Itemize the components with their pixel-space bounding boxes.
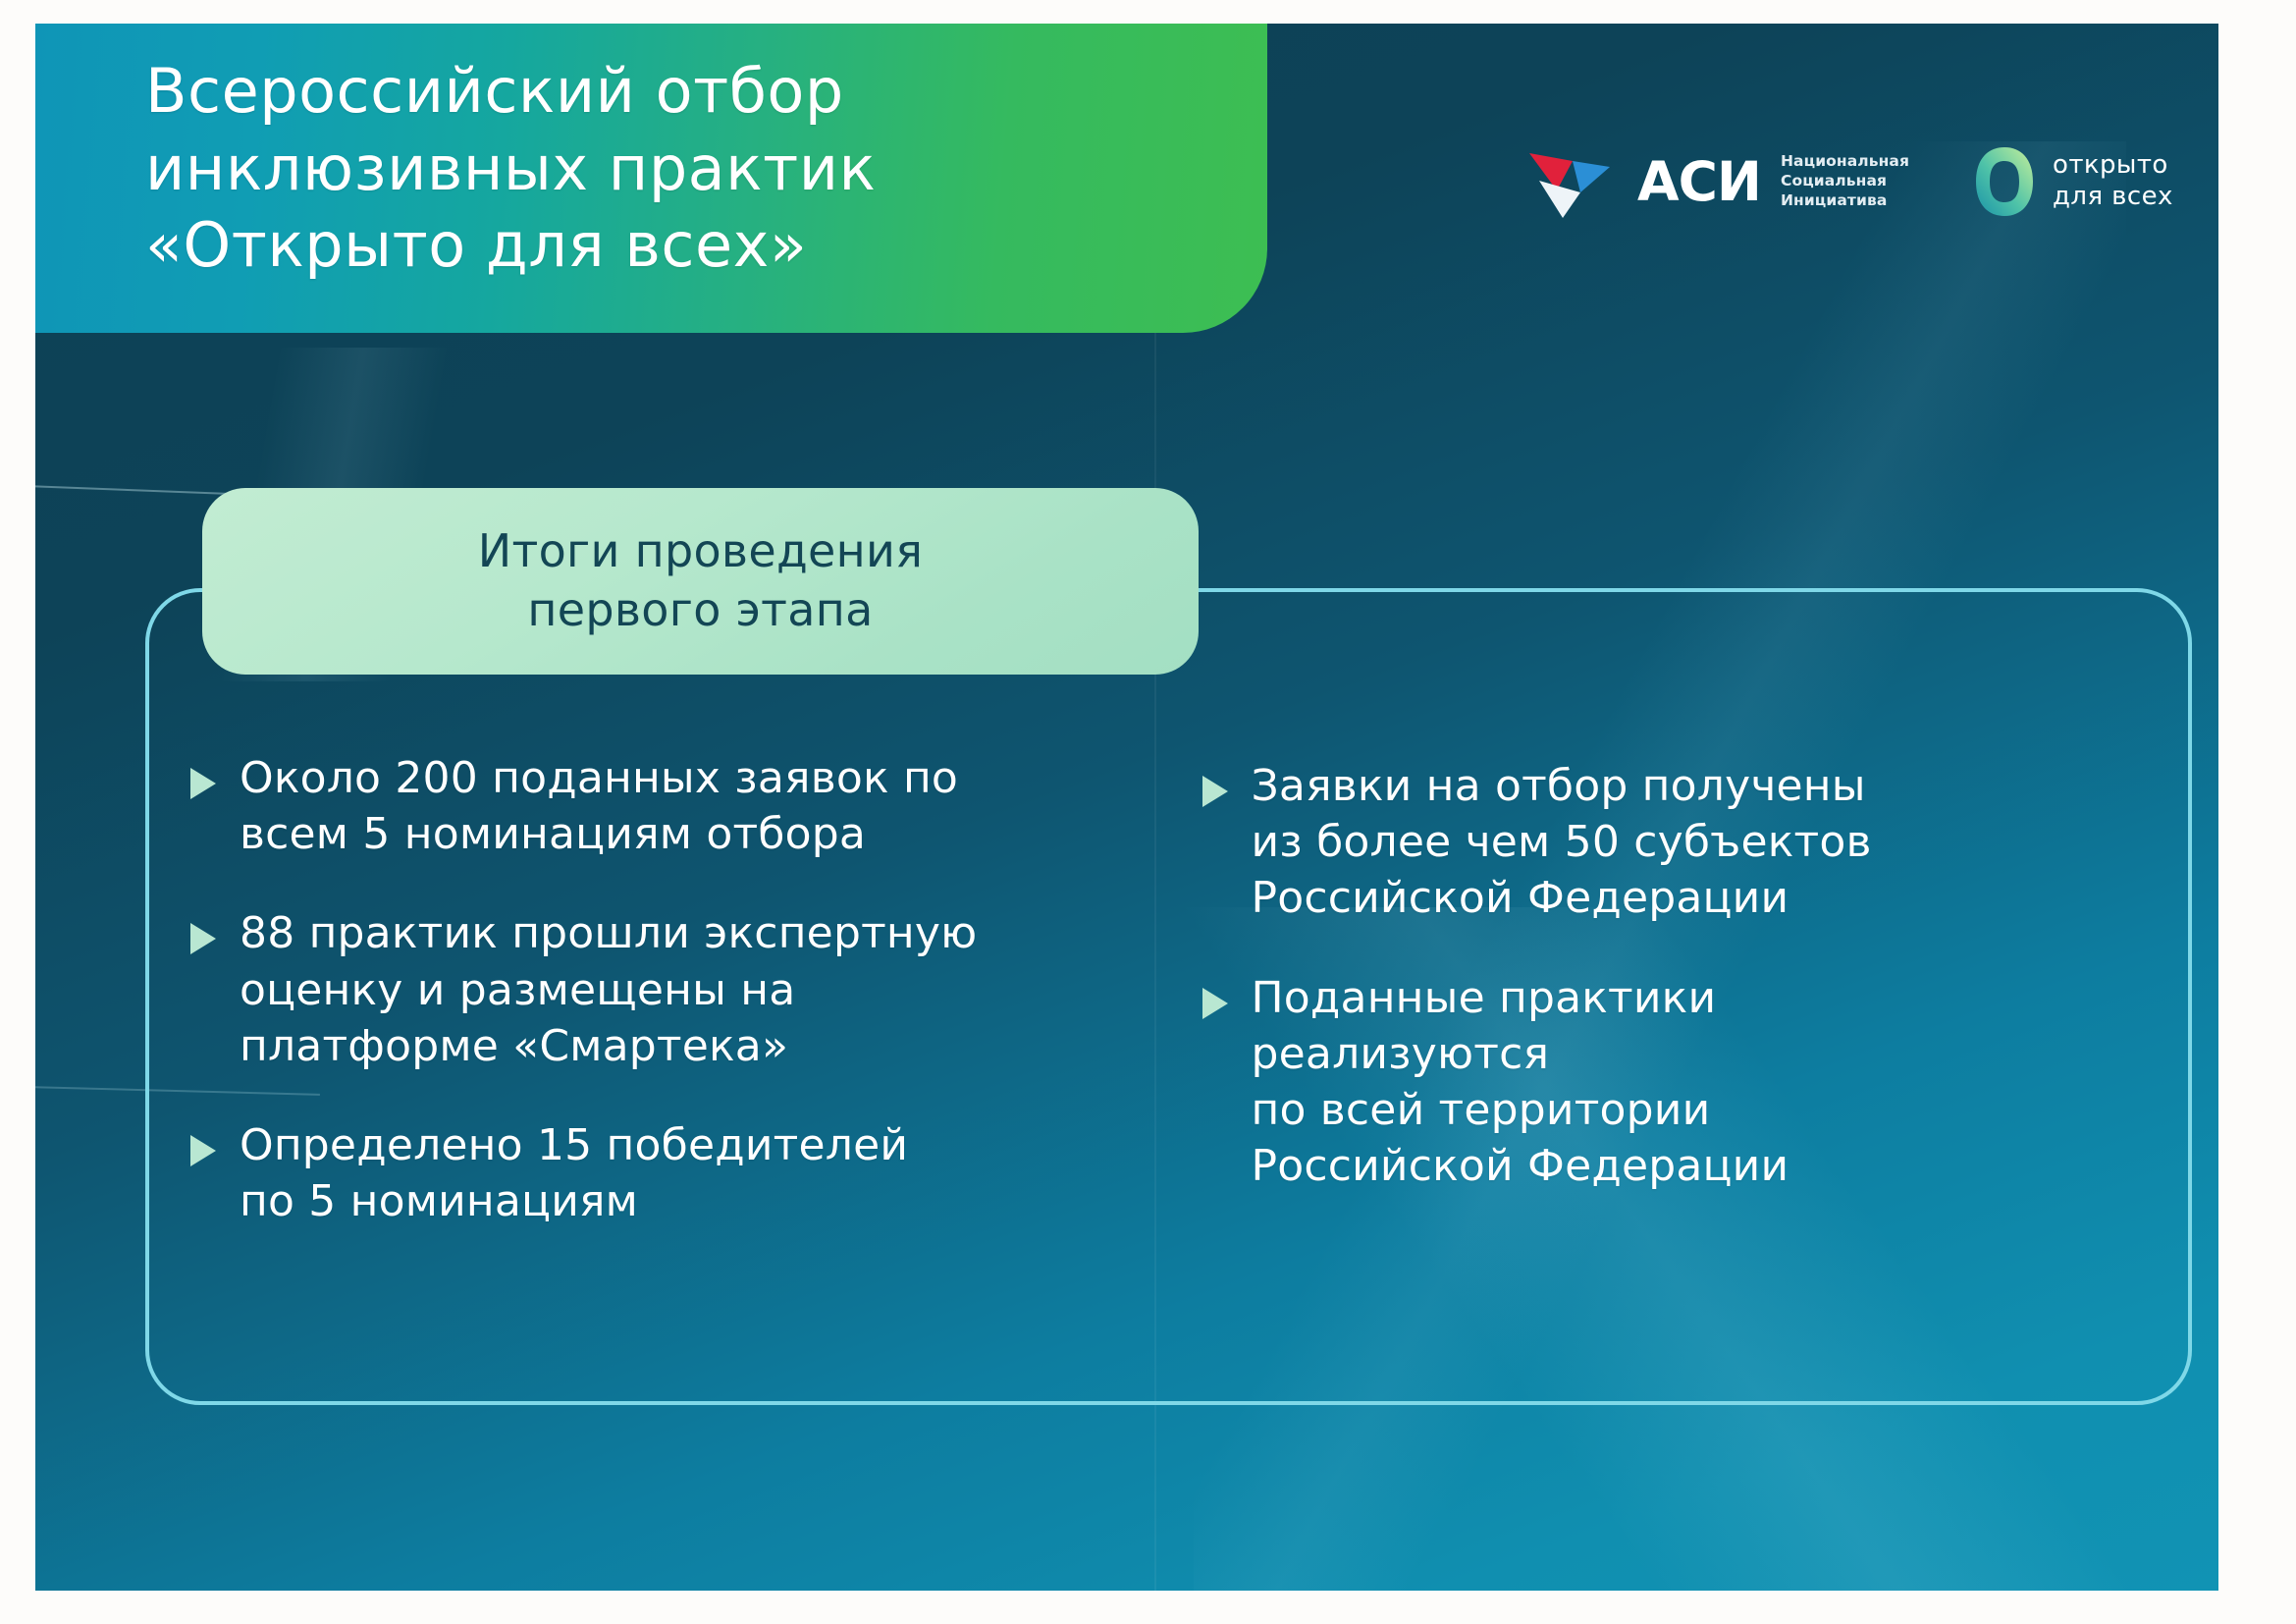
bullet-item: Заявки на отбор получены из более чем 50…	[1202, 758, 2148, 927]
bullet-column-right: Заявки на отбор получены из более чем 50…	[1202, 750, 2148, 1272]
slide-title: Всероссийский отбор инклюзивных практик …	[145, 53, 1176, 285]
open-for-all-ring-icon	[1974, 145, 2035, 218]
bullet-item: Около 200 поданных заявок по всем 5 номи…	[190, 750, 1136, 862]
presentation-slide: Всероссийский отбор инклюзивных практик …	[35, 24, 2218, 1591]
asi-chevron-icon	[1527, 141, 1622, 222]
triangle-bullet-icon	[190, 1135, 216, 1166]
triangle-bullet-icon	[1202, 776, 1228, 807]
triangle-bullet-icon	[190, 923, 216, 954]
bullet-item: 88 практик прошли экспертную оценку и ра…	[190, 905, 1136, 1074]
bullet-text: Поданные практики реализуются по всей те…	[1252, 970, 1789, 1195]
triangle-bullet-icon	[1202, 988, 1228, 1019]
bullet-text: Около 200 поданных заявок по всем 5 номи…	[240, 750, 958, 862]
open-for-all-wordmark: открыто для всех	[2053, 150, 2173, 212]
bullet-columns: Около 200 поданных заявок по всем 5 номи…	[145, 750, 2192, 1272]
triangle-bullet-icon	[190, 768, 216, 799]
open-for-all-logo: открыто для всех	[1974, 145, 2173, 218]
asi-tagline: Национальная Социальная Инициатива	[1781, 152, 1909, 210]
bullet-text: Заявки на отбор получены из более чем 50…	[1252, 758, 1872, 927]
bullet-text: Определено 15 победителей по 5 номинация…	[240, 1117, 908, 1229]
title-banner: Всероссийский отбор инклюзивных практик …	[35, 24, 1267, 333]
section-heading-text: Итоги проведения первого этапа	[478, 522, 923, 640]
asi-wordmark: АСИ	[1637, 155, 1761, 209]
bullet-column-left: Около 200 поданных заявок по всем 5 номи…	[190, 750, 1136, 1272]
bullet-item: Определено 15 победителей по 5 номинация…	[190, 1117, 1136, 1229]
logo-group: АСИ Национальная Социальная Инициатива о…	[1527, 141, 2173, 222]
bullet-text: 88 практик прошли экспертную оценку и ра…	[240, 905, 977, 1074]
bullet-item: Поданные практики реализуются по всей те…	[1202, 970, 2148, 1195]
asi-logo: АСИ Национальная Социальная Инициатива	[1527, 141, 1909, 222]
section-heading-badge: Итоги проведения первого этапа	[202, 488, 1199, 675]
scanned-page: Всероссийский отбор инклюзивных практик …	[0, 0, 2296, 1624]
